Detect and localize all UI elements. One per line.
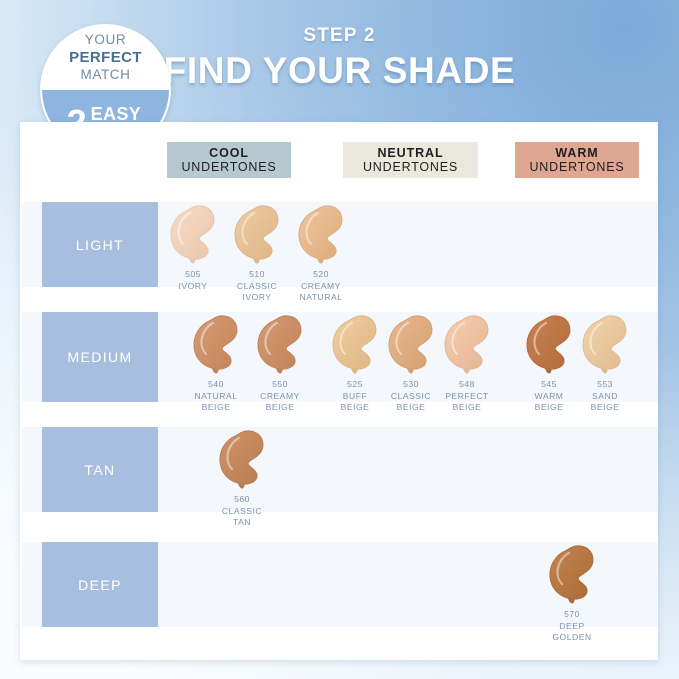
shade-code: 510	[249, 269, 265, 281]
badge-line-perfect: PERFECT	[69, 49, 142, 68]
shade-name: DEEP GOLDEN	[552, 621, 591, 644]
shade-swatch-545[interactable]: 545WARM BEIGE	[517, 314, 581, 414]
foundation-drop-icon	[441, 314, 493, 376]
shade-name: BUFF BEIGE	[341, 391, 370, 414]
shade-code: 570	[564, 609, 580, 621]
column-header-neutral-title: NEUTRAL	[377, 146, 443, 160]
foundation-drop-icon	[216, 429, 268, 491]
shade-name: IVORY	[178, 281, 207, 293]
shade-swatch-553[interactable]: 553SAND BEIGE	[573, 314, 637, 414]
shade-code: 505	[185, 269, 201, 281]
shade-swatch-540[interactable]: 540NATURAL BEIGE	[184, 314, 248, 414]
shade-code: 525	[347, 379, 363, 391]
column-header-warm-title: WARM	[555, 146, 598, 160]
badge-line-match: MATCH	[81, 67, 131, 84]
shade-swatch-505[interactable]: 505IVORY	[161, 204, 225, 292]
foundation-drop-icon	[295, 204, 347, 266]
shade-name: CREAMY NATURAL	[300, 281, 343, 304]
badge-top-half: YOUR PERFECT MATCH	[42, 26, 169, 90]
foundation-drop-icon	[190, 314, 242, 376]
row-label-light: LIGHT	[42, 202, 158, 287]
shade-name: NATURAL BEIGE	[195, 391, 238, 414]
badge-line-your: YOUR	[85, 32, 126, 49]
column-header-cool-sub: UNDERTONES	[181, 160, 276, 174]
foundation-drop-icon	[546, 544, 598, 606]
shade-swatch-525[interactable]: 525BUFF BEIGE	[323, 314, 387, 414]
column-header-cool: COOL UNDERTONES	[167, 142, 291, 178]
shade-code: 560	[234, 494, 250, 506]
column-header-warm: WARM UNDERTONES	[515, 142, 639, 178]
foundation-drop-icon	[231, 204, 283, 266]
row-label-deep: DEEP	[42, 542, 158, 627]
shade-code: 530	[403, 379, 419, 391]
shade-code: 545	[541, 379, 557, 391]
foundation-drop-icon	[329, 314, 381, 376]
foundation-drop-icon	[523, 314, 575, 376]
foundation-drop-icon	[254, 314, 306, 376]
shade-name: PERFECT BEIGE	[445, 391, 489, 414]
foundation-drop-icon	[579, 314, 631, 376]
shade-code: 550	[272, 379, 288, 391]
shade-name: SAND BEIGE	[591, 391, 620, 414]
shade-swatch-550[interactable]: 550CREAMY BEIGE	[248, 314, 312, 414]
shade-name: CLASSIC IVORY	[237, 281, 277, 304]
row-label-tan: TAN	[42, 427, 158, 512]
column-header-neutral: NEUTRAL UNDERTONES	[343, 142, 478, 178]
column-header-warm-sub: UNDERTONES	[529, 160, 624, 174]
shade-swatch-530[interactable]: 530CLASSIC BEIGE	[379, 314, 443, 414]
shade-name: WARM BEIGE	[535, 391, 564, 414]
shade-code: 553	[597, 379, 613, 391]
shade-swatch-510[interactable]: 510CLASSIC IVORY	[225, 204, 289, 304]
shade-code: 540	[208, 379, 224, 391]
shade-name: CLASSIC TAN	[222, 506, 262, 529]
shade-name: CREAMY BEIGE	[260, 391, 300, 414]
shade-swatch-570[interactable]: 570DEEP GOLDEN	[540, 544, 604, 644]
shade-code: 520	[313, 269, 329, 281]
badge-easy-label: EASY	[91, 105, 145, 123]
row-label-medium: MEDIUM	[42, 312, 158, 402]
shade-name: CLASSIC BEIGE	[391, 391, 431, 414]
foundation-drop-icon	[385, 314, 437, 376]
foundation-drop-icon	[167, 204, 219, 266]
shade-swatch-560[interactable]: 560CLASSIC TAN	[210, 429, 274, 529]
column-header-neutral-sub: UNDERTONES	[363, 160, 458, 174]
column-header-cool-title: COOL	[209, 146, 249, 160]
shade-swatch-548[interactable]: 548PERFECT BEIGE	[435, 314, 499, 414]
shade-code: 548	[459, 379, 475, 391]
shade-swatch-520[interactable]: 520CREAMY NATURAL	[289, 204, 353, 304]
